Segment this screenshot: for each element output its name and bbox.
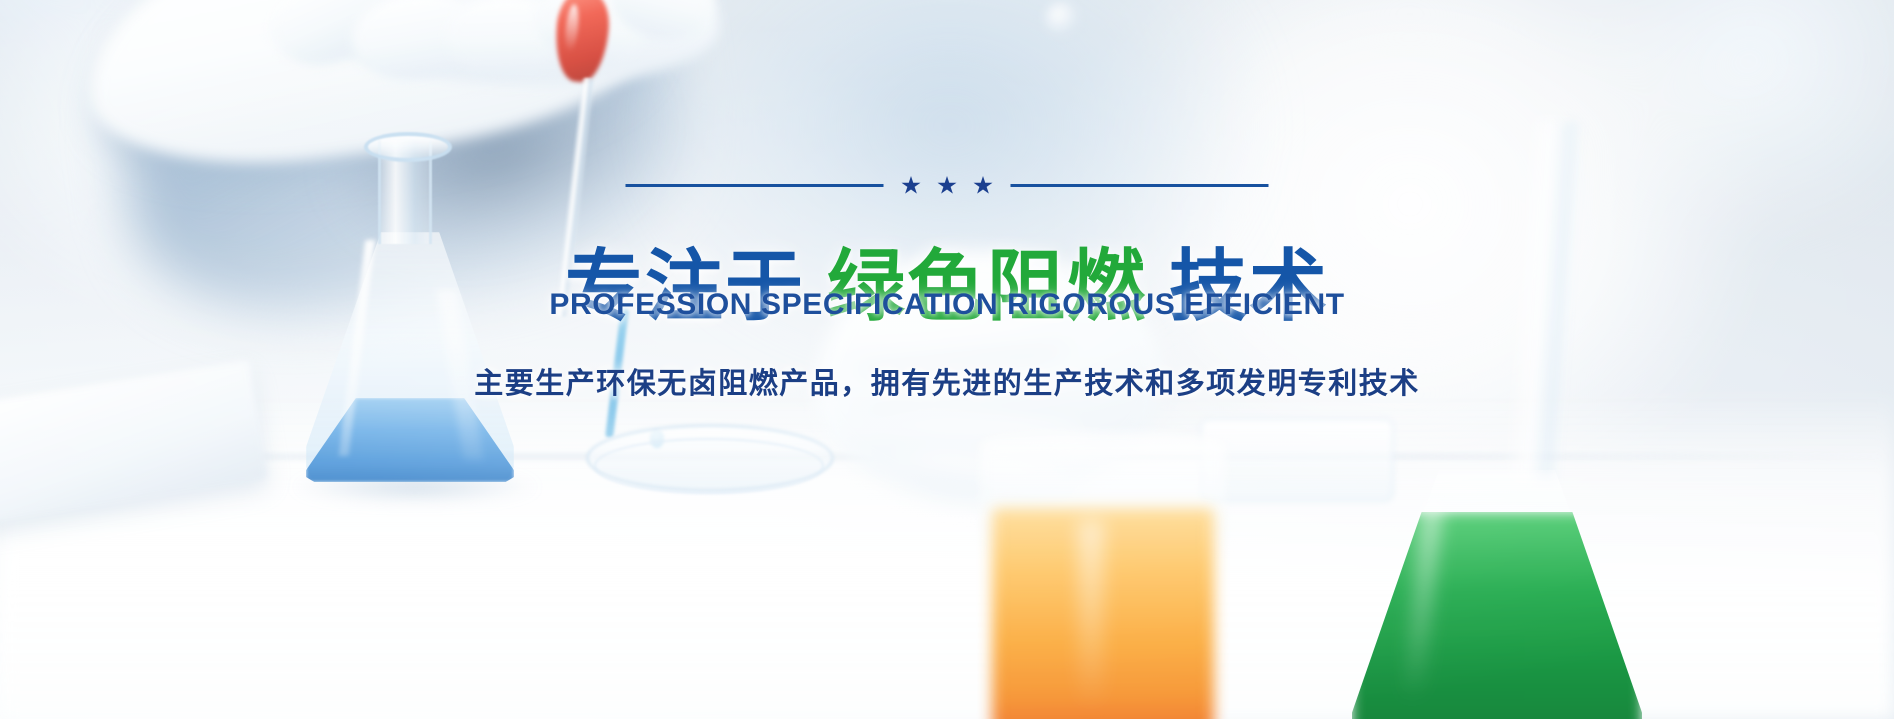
star-icon (974, 176, 993, 195)
page-subtitle: PROFESSION SPECIFICATION RIGOROUS EFFICI… (549, 288, 1344, 322)
star-group (898, 176, 997, 195)
divider-line-left (626, 184, 884, 187)
star-icon (902, 176, 921, 195)
divider-line-right (1011, 184, 1269, 187)
decorative-divider (626, 176, 1269, 195)
page-description: 主要生产环保无卤阻燃产品，拥有先进的生产技术和多项发明专利技术 (474, 360, 1420, 402)
star-icon (938, 176, 957, 195)
hero-banner: 专注于绿色阻燃技术 PROFESSION SPECIFICATION RIGOR… (0, 0, 1894, 719)
banner-text-overlay: 专注于绿色阻燃技术 PROFESSION SPECIFICATION RIGOR… (0, 0, 1894, 719)
